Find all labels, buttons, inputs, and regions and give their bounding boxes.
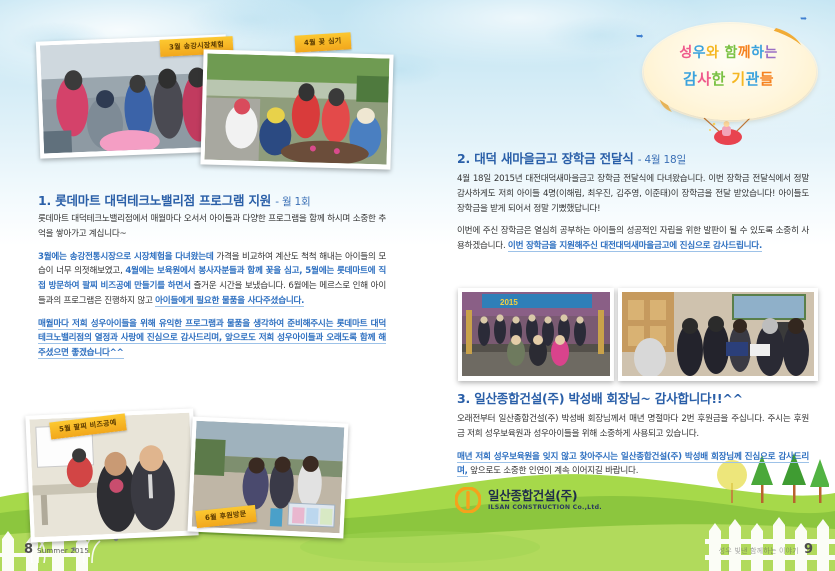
bird-icon: ➥ xyxy=(800,14,807,23)
section-3-paragraph: 오래전부터 일산종합건설(주) 박성배 회장님께서 매년 명절마다 2번 후원금… xyxy=(457,412,809,442)
photo-caption-tag: 4월 꽃 심기 xyxy=(295,32,352,52)
ilsan-logo-mark-icon xyxy=(455,487,481,513)
footer-page-number-right: 9 xyxy=(804,542,813,557)
balloon-title-line2-char: 기 xyxy=(731,70,745,88)
section-3-text-run: 오래전부터 일산종합건설(주) 박성배 회장님께서 매년 명절마다 2번 후원금… xyxy=(457,414,809,439)
section-2-paragraph: 4월 18일 2015년 대전대덕새마을금고 장학금 전달식에 다녀왔습니다. … xyxy=(457,172,809,216)
svg-text:2015: 2015 xyxy=(500,298,518,307)
sponsor-logo-korean: 일산종합건설(주) xyxy=(488,489,602,503)
balloon-title-line1-char: 성 xyxy=(679,45,692,61)
section-2-paragraph: 이번에 주신 장학금은 열심히 공부하는 아이들의 성공적인 자립을 위한 발판… xyxy=(457,224,809,254)
balloon-title-art: 성우와 함께하는 감사한 기관들 ➥ ➥ xyxy=(626,6,831,148)
balloon-title-line1-char: 하 xyxy=(751,45,764,61)
section-1-body: 롯데마트 대덕테크노밸리점에서 매월마다 오서서 아이들과 다양한 프로그램을 … xyxy=(38,212,386,369)
balloon-title-line1: 성우와 함께하는 xyxy=(626,42,831,62)
section-2-number: 2. xyxy=(457,151,470,166)
section-2-body: 4월 18일 2015년 대전대덕새마을금고 장학금 전달식에 다녀왔습니다. … xyxy=(457,172,809,262)
balloon-title-line2-char: 관 xyxy=(746,70,760,88)
balloon-title-line1-char: 께 xyxy=(738,45,751,61)
section-1-number: 1. xyxy=(38,193,51,208)
balloon-title-line1-char: 와 xyxy=(706,45,719,61)
section-1-paragraph: 롯데마트 대덕테크노밸리점에서 매월마다 오서서 아이들과 다양한 프로그램을 … xyxy=(38,212,386,242)
section-1-paragraph: 매월마다 저희 성우아이들을 위해 유익한 프로그램과 물품을 생각하여 준비해… xyxy=(38,317,386,361)
section-1-text-run: 3월에는 송강전통시장으로 시장체험을 다녀왔는데 xyxy=(38,252,214,262)
footer-left: 8Summer 2015 xyxy=(24,542,89,557)
balloon-title-line2-char: 감 xyxy=(683,70,697,88)
section-1-heading: 롯데마트 대덕테크노밸리점 프로그램 지원 xyxy=(55,193,271,208)
footer-page-number-left: 8 xyxy=(24,542,33,557)
magazine-spread: 성우와 함께하는 감사한 기관들 ➥ ➥ xyxy=(0,0,835,571)
section-2-text-run: 4월 18일 2015년 대전대덕새마을금고 장학금 전달식에 다녀왔습니다. … xyxy=(457,174,809,214)
section-2-title: 2. 대덕 새마을금고 장학금 전달식 - 4월 18일 xyxy=(457,148,686,167)
section-2-subheading: - 4월 18일 xyxy=(638,154,686,166)
sponsor-logo: 일산종합건설(주) ILSAN CONSTRUCTION Co.,Ltd. xyxy=(455,487,602,513)
section-3-body: 오래전부터 일산종합건설(주) 박성배 회장님께서 매년 명절마다 2번 후원금… xyxy=(457,412,809,487)
section-3-paragraph: 매년 저희 성우보육원을 잊지 않고 찾아주시는 일산종합건설(주) 박성배 회… xyxy=(457,450,809,480)
section-3-title: 3. 일산종합건설(주) 박성배 회장님~ 감사합니다!!^^ xyxy=(457,388,743,407)
section-3-text-run: 앞으로도 소중한 인연이 계속 이어지길 바랍니다. xyxy=(468,466,639,476)
section-2-text-run: 이번 장학금을 지원해주신 대전대덕새마을금고에 진심으로 감사드립니다. xyxy=(508,241,762,252)
photo-scholarship-group: 2015 xyxy=(458,288,614,381)
sponsor-logo-english: ILSAN CONSTRUCTION Co.,Ltd. xyxy=(488,504,602,511)
balloon-title-line2-char: 한 xyxy=(711,70,725,88)
bird-icon: ➥ xyxy=(636,32,644,42)
footer-season-label: Summer 2015 xyxy=(37,547,89,555)
balloon-title-line1-char: 는 xyxy=(764,45,777,61)
section-1-text-run: 매월마다 저희 성우아이들을 위해 유익한 프로그램과 물품을 생각하여 준비해… xyxy=(38,319,386,360)
footer-section-label: 성우 빛낸 함께하는 이야기 xyxy=(719,547,799,555)
section-1-text-run: 롯데마트 대덕테크노밸리점에서 매월마다 오서서 아이들과 다양한 프로그램을 … xyxy=(38,214,386,239)
balloon-title-line1-char: 함 xyxy=(725,45,738,61)
section-1-subheading: - 월 1회 xyxy=(275,196,310,208)
section-1-paragraph: 3월에는 송강전통시장으로 시장체험을 다녀왔는데 가격을 비교하여 계산도 척… xyxy=(38,250,386,309)
section-3-number: 3. xyxy=(457,391,470,406)
balloon-title-line1-char: 우 xyxy=(693,45,706,61)
balloon-title-line2: 감사한 기관들 xyxy=(626,68,831,89)
section-2-heading: 대덕 새마을금고 장학금 전달식 xyxy=(474,151,633,166)
photo-scholarship-award xyxy=(618,288,818,381)
section-1-text-run: 아이들에게 필요한 물품을 사다주셨습니다. xyxy=(155,296,304,307)
balloon-title-line2-char: 들 xyxy=(760,70,774,88)
section-3-heading: 일산종합건설(주) 박성배 회장님~ 감사합니다!!^^ xyxy=(474,391,743,406)
balloon-title-line2-char: 사 xyxy=(697,70,711,88)
photo-flower-planting xyxy=(200,49,393,169)
footer-right: 성우 빛낸 함께하는 이야기9 xyxy=(715,542,813,557)
section-1-title: 1. 롯데마트 대덕테크노밸리점 프로그램 지원 - 월 1회 xyxy=(38,190,310,209)
